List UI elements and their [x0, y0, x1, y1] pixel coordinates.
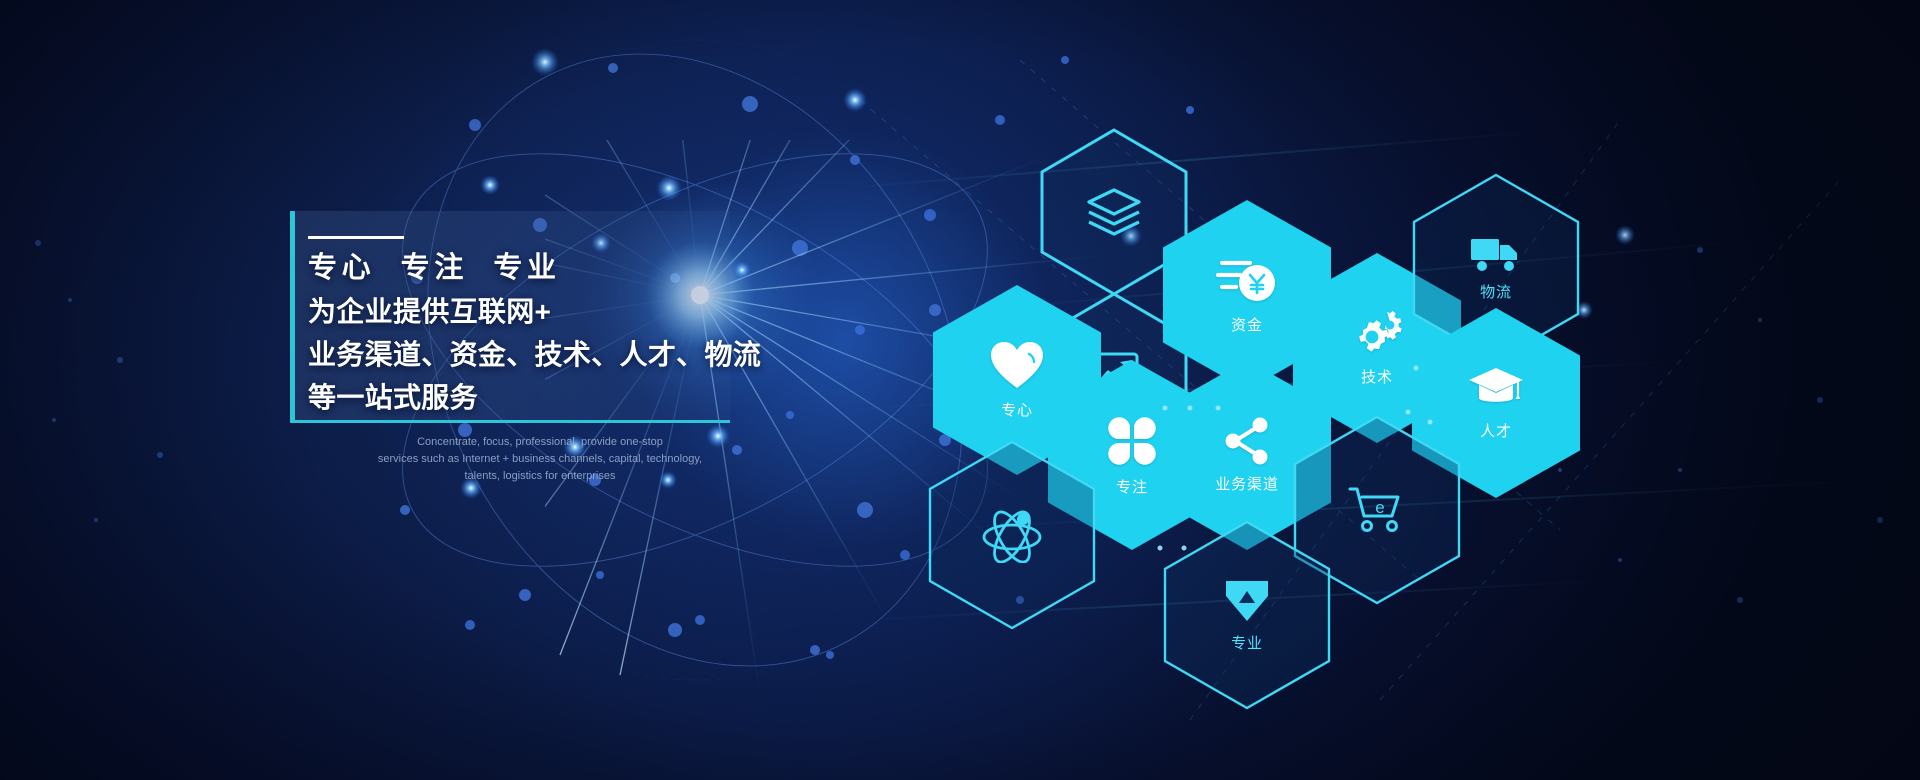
hex-capital-label: 资金: [1231, 314, 1263, 335]
hex-talent-label: 人才: [1480, 420, 1512, 441]
hex-channel-label: 业务渠道: [1215, 473, 1279, 494]
share-network-icon: [1221, 417, 1273, 465]
heart-icon: [989, 341, 1045, 391]
subtitle-line-1: Concentrate, focus, professional, provid…: [345, 434, 735, 451]
headline-line-2: 为企业提供互联网+: [308, 290, 778, 333]
graduation-cap-icon: [1468, 366, 1524, 412]
subtitle-line-3: talents, logistics for enterprises: [345, 468, 735, 485]
hex-devotion-label: 专注: [1116, 476, 1148, 497]
hex-pro-label: 专业: [1231, 632, 1263, 653]
hex-logistics-label: 物流: [1480, 281, 1512, 302]
delivery-truck-icon: [1470, 235, 1522, 273]
headline-line-1: 专心 专注 专业: [308, 246, 778, 290]
hex-tech-label: 技术: [1361, 366, 1393, 387]
e-cart-icon: e: [1348, 486, 1406, 534]
divider-rule: [308, 236, 404, 239]
hex-focus-label: 专心: [1001, 399, 1033, 420]
subtitle-line-2: services such as Internet + business cha…: [345, 451, 735, 468]
atom-icon: [981, 507, 1043, 563]
headline-block: 专心 专注 专业 为企业提供互联网+ 业务渠道、资金、技术、人才、物流 等一站式…: [308, 246, 778, 419]
subtitle-block: Concentrate, focus, professional, provid…: [345, 434, 735, 485]
yuan-money-icon: [1216, 256, 1278, 306]
diamond-icon: [1222, 578, 1272, 624]
gears-icon: [1349, 310, 1405, 358]
layers-icon: [1085, 186, 1143, 238]
svg-text:e: e: [1375, 498, 1384, 517]
headline-line-3: 业务渠道、资金、技术、人才、物流: [308, 333, 778, 376]
banner-stage: 专心 专注 专业 为企业提供互联网+ 业务渠道、资金、技术、人才、物流 等一站式…: [0, 0, 1920, 780]
headline-line-4: 等一站式服务: [308, 376, 778, 419]
clover-icon: [1105, 414, 1159, 468]
